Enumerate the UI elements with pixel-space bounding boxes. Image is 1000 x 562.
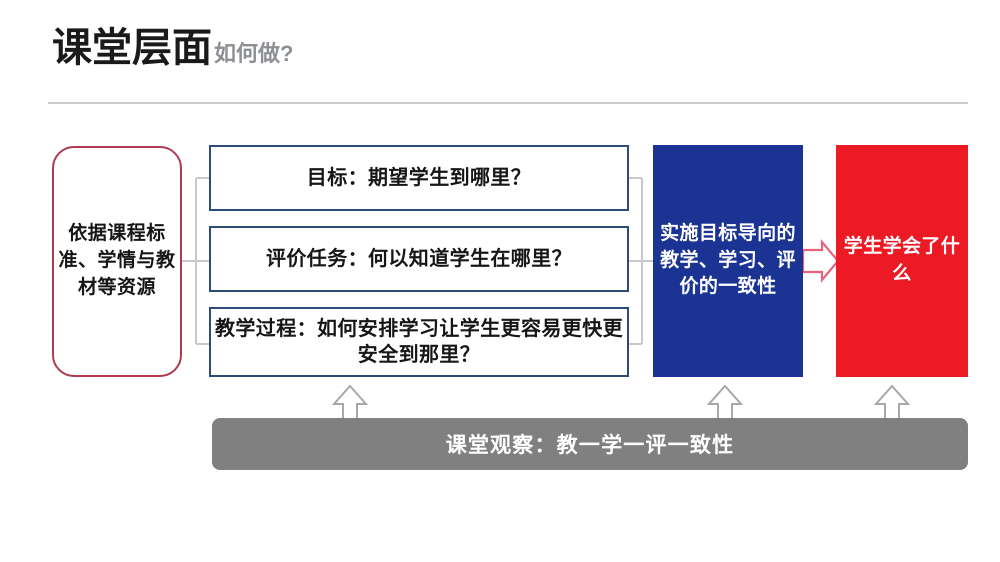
- up-arrow-2-icon: [709, 386, 741, 420]
- flow-arrow-right-icon: [803, 242, 838, 280]
- slide-canvas: 课堂层面 如何做?: [0, 0, 1000, 562]
- outcome-box[interactable]: 学生学会了什么: [836, 145, 968, 377]
- right-bracket-connector: [629, 178, 653, 344]
- element-box-assessment-task[interactable]: 评价任务：何以知道学生在哪里？: [209, 226, 629, 292]
- element-box-goal[interactable]: 目标：期望学生到哪里？: [209, 145, 629, 211]
- element-box-teaching-process[interactable]: 教学过程：如何安排学习让学生更容易更快更安全到那里？: [209, 307, 629, 377]
- implementation-consistency-box[interactable]: 实施目标导向的教学、学习、评价的一致性: [653, 145, 803, 377]
- classroom-observation-label: 课堂观察：教一学一评一致性: [446, 429, 735, 459]
- process-diagram: 依据课程标准、学情与教材等资源 目标：期望学生到哪里？ 评价任务：何以知道学生在…: [0, 0, 1000, 562]
- source-resources-box[interactable]: 依据课程标准、学情与教材等资源: [52, 146, 182, 377]
- element-box-assessment-task-label: 评价任务：何以知道学生在哪里？: [266, 246, 572, 272]
- element-box-goal-label: 目标：期望学生到哪里？: [307, 165, 531, 191]
- implementation-consistency-label: 实施目标导向的教学、学习、评价的一致性: [653, 221, 803, 302]
- element-box-teaching-process-label: 教学过程：如何安排学习让学生更容易更快更安全到那里？: [211, 316, 627, 369]
- classroom-observation-bar[interactable]: 课堂观察：教一学一评一致性: [212, 418, 968, 470]
- left-bracket-connector: [182, 178, 209, 344]
- outcome-label: 学生学会了什么: [836, 234, 968, 288]
- up-arrow-3-icon: [876, 386, 908, 420]
- source-resources-label: 依据课程标准、学情与教材等资源: [54, 221, 180, 302]
- up-arrow-1-icon: [334, 386, 366, 420]
